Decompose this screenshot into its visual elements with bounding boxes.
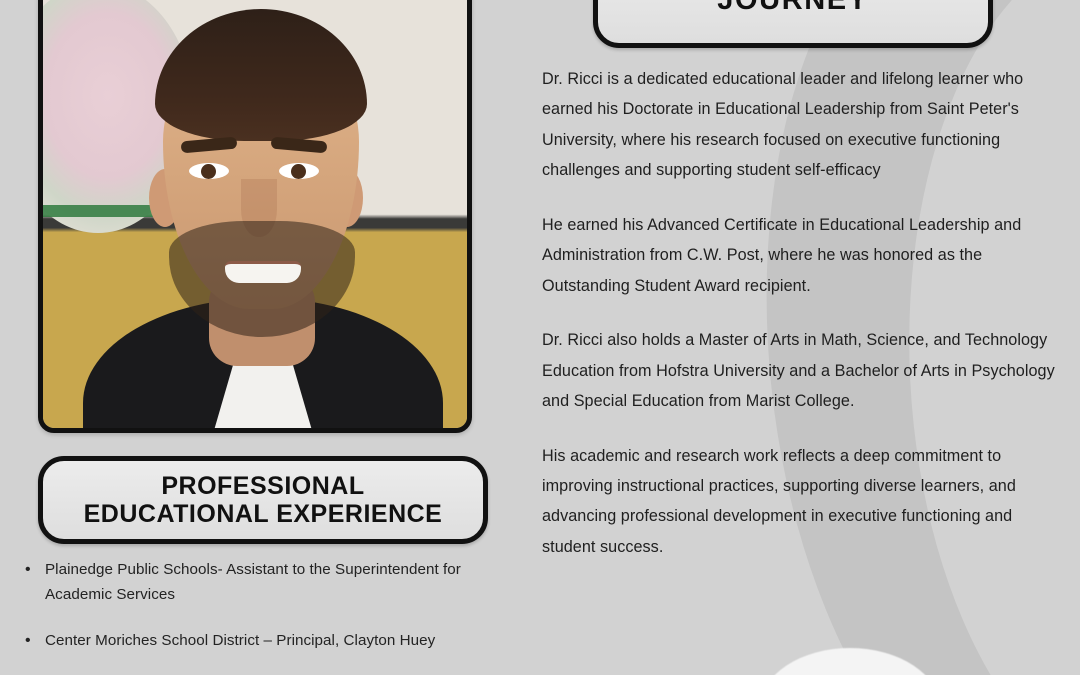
background-circle-bottom	[760, 648, 940, 675]
journey-body: Dr. Ricci is a dedicated educational lea…	[542, 64, 1062, 562]
portrait-figure	[43, 0, 467, 428]
poster-canvas: PROFESSIONAL EDUCATIONAL EXPERIENCE Plai…	[0, 0, 1080, 675]
hair-shape	[155, 9, 367, 141]
portrait-photo	[38, 0, 472, 433]
experience-list: Plainedge Public Schools- Assistant to t…	[18, 558, 523, 675]
journey-heading-box: JOURNEY	[593, 0, 993, 48]
journey-heading-text: JOURNEY	[717, 0, 868, 17]
experience-heading-line-1: PROFESSIONAL	[161, 472, 364, 500]
journey-paragraph-1: Dr. Ricci is a dedicated educational lea…	[542, 64, 1062, 186]
experience-heading-line-2: EDUCATIONAL EXPERIENCE	[84, 500, 443, 528]
eye-right-shape	[279, 163, 319, 179]
journey-paragraph-2: He earned his Advanced Certificate in Ed…	[542, 210, 1062, 301]
list-item: Plainedge Public Schools- Assistant to t…	[18, 558, 523, 607]
left-column: PROFESSIONAL EDUCATIONAL EXPERIENCE Plai…	[0, 0, 520, 675]
mouth-shape	[225, 261, 301, 283]
experience-heading-box: PROFESSIONAL EDUCATIONAL EXPERIENCE	[38, 456, 488, 544]
experience-heading-text: PROFESSIONAL EDUCATIONAL EXPERIENCE	[84, 472, 443, 528]
journey-paragraph-4: His academic and research work reflects …	[542, 441, 1062, 563]
eye-left-shape	[189, 163, 229, 179]
list-item: Center Moriches School District – Princi…	[18, 629, 523, 654]
journey-paragraph-3: Dr. Ricci also holds a Master of Arts in…	[542, 325, 1062, 416]
